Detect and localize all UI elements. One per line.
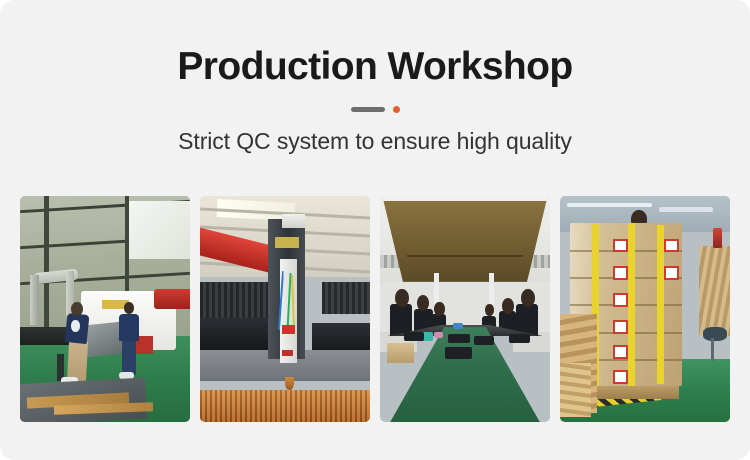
- production-workshop-banner: Production Workshop Strict QC system to …: [0, 0, 750, 460]
- gallery-photo-3[interactable]: [380, 196, 550, 422]
- divider-dot-icon: [393, 106, 400, 113]
- photo-1-scene: [20, 196, 190, 422]
- photo-4-scene: [560, 196, 730, 422]
- photo-2-scene: [200, 196, 370, 422]
- page-title: Production Workshop: [0, 46, 750, 88]
- photo-gallery: [20, 196, 730, 422]
- page-subtitle: Strict QC system to ensure high quality: [0, 128, 750, 155]
- gallery-photo-4[interactable]: [560, 196, 730, 422]
- gallery-photo-2[interactable]: [200, 196, 370, 422]
- gallery-photo-1[interactable]: [20, 196, 190, 422]
- divider-bar-icon: [351, 107, 385, 112]
- photo-3-scene: [380, 196, 550, 422]
- title-divider: [0, 105, 750, 114]
- banner-header: Production Workshop Strict QC system to …: [0, 0, 750, 155]
